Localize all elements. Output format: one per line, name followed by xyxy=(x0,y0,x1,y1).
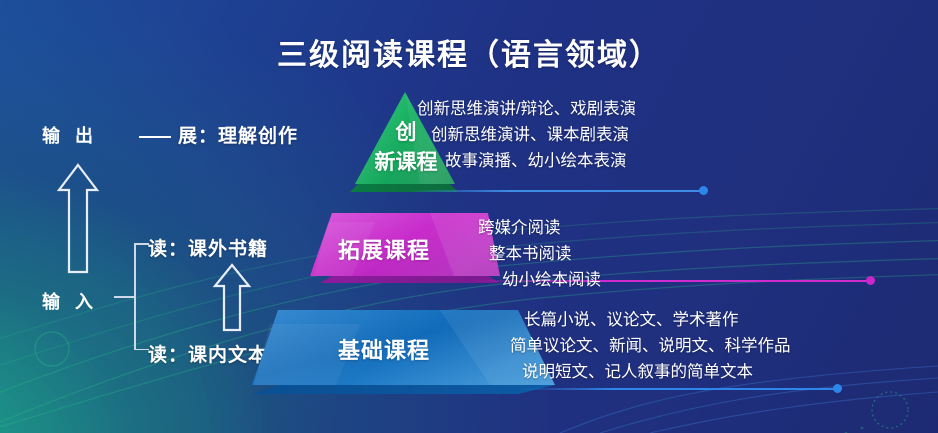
description-list-innovation: 创新思维演讲/辩论、戏剧表演 创新思维演讲、课本剧表演 故事演播、幼小绘本表演 xyxy=(417,96,636,174)
description-item: 创新思维演讲/辩论、戏剧表演 xyxy=(417,96,636,122)
description-item: 故事演播、幼小绘本表演 xyxy=(445,148,636,174)
output-label: 输 出 xyxy=(42,122,98,148)
rule-dot-basic xyxy=(833,384,842,393)
rule-basic xyxy=(519,388,837,390)
description-list-basic: 长篇小说、议论文、学术著作 简单议论文、新闻、说明文、科学作品 说明短文、记人叙… xyxy=(524,307,791,385)
page-title: 三级阅读课程（语言领域） xyxy=(0,30,938,74)
description-item: 整本书阅读 xyxy=(489,241,601,267)
description-item: 幼小绘本阅读 xyxy=(502,267,601,293)
input-label: 输 入 xyxy=(42,288,98,314)
input-bracket-stem xyxy=(114,296,135,298)
description-item: 简单议论文、新闻、说明文、科学作品 xyxy=(510,333,791,359)
slide-canvas: 三级阅读课程（语言领域） 输 出 展：理解创作 输 入 读：课外书籍 读：课内文… xyxy=(0,0,938,433)
rule-dot-extension xyxy=(866,276,875,285)
tier-label-basic: 基础课程 xyxy=(338,333,430,365)
description-item: 创新思维演讲、课本剧表演 xyxy=(431,122,636,148)
up-arrow-icon-output xyxy=(56,163,100,275)
description-item: 跨媒介阅读 xyxy=(478,215,601,241)
output-connector-dash xyxy=(139,136,171,138)
description-item: 说明短文、记人叙事的简单文本 xyxy=(522,359,791,385)
description-item: 长篇小说、议论文、学术著作 xyxy=(524,307,791,333)
rule-innovation xyxy=(407,190,702,192)
tier-label-extension: 拓展课程 xyxy=(338,233,430,265)
rule-dot-innovation xyxy=(699,186,708,195)
description-list-extension: 跨媒介阅读 整本书阅读 幼小绘本阅读 xyxy=(478,215,601,293)
input-bracket-bottom-stub xyxy=(134,349,149,351)
input-bracket-top-stub xyxy=(134,243,149,245)
